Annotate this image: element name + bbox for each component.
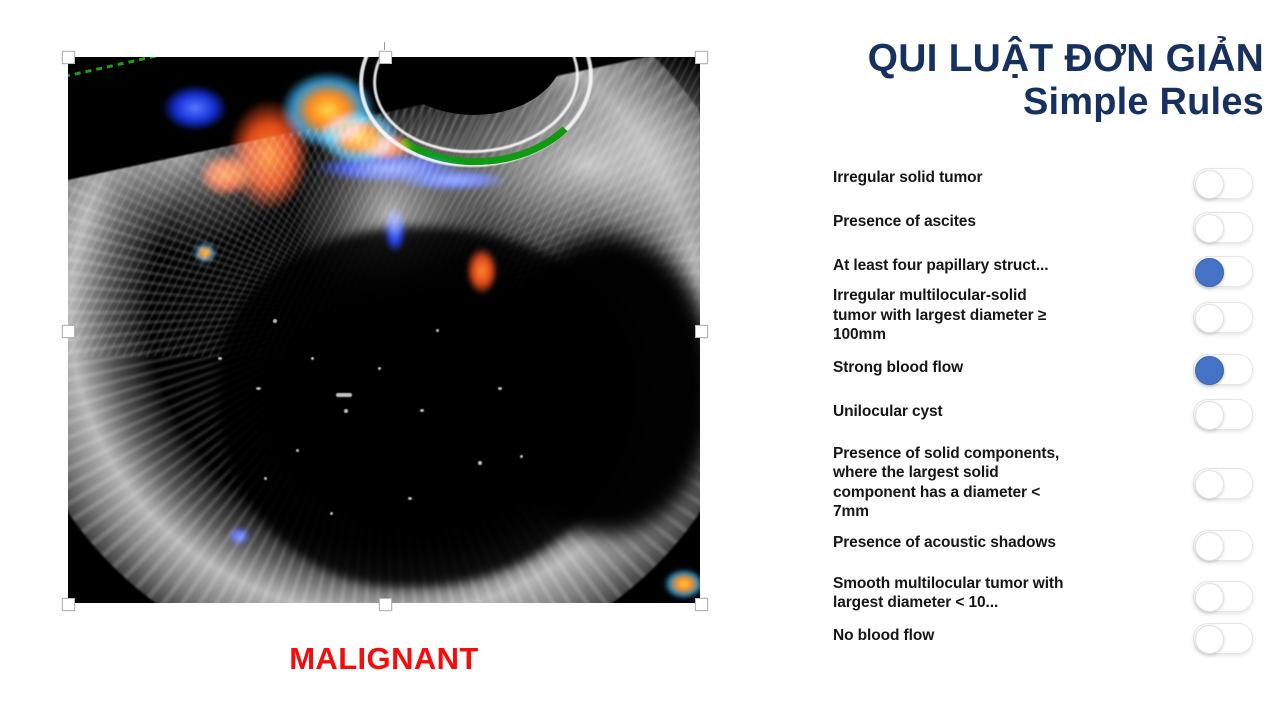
doppler-blue-blob xyxy=(398,169,508,191)
rule-toggle-four-papillary-structures[interactable] xyxy=(1193,256,1253,287)
rule-label: Presence of acoustic shadows xyxy=(833,530,1083,553)
toggle-knob-icon xyxy=(1195,583,1224,612)
rule-toggle-strong-blood-flow[interactable] xyxy=(1193,354,1253,385)
toggle-knob-icon xyxy=(1195,532,1224,561)
rule-toggle-unilocular-cyst[interactable] xyxy=(1193,399,1253,430)
doppler-blue-blob xyxy=(384,207,406,253)
rule-label: Strong blood flow xyxy=(833,354,1071,378)
selection-handle-top-center[interactable] xyxy=(379,51,392,64)
selection-handle-top-left[interactable] xyxy=(62,51,75,64)
rule-label: At least four papillary struct... xyxy=(833,256,1071,276)
doppler-red-blob xyxy=(358,133,414,161)
rule-label: No blood flow xyxy=(833,623,1071,646)
rotate-handle-stem xyxy=(384,42,385,50)
rule-row: Smooth multilocular tumor with largest d… xyxy=(833,574,1253,613)
rule-row: Strong blood flow xyxy=(833,354,1253,384)
rule-row: At least four papillary struct... xyxy=(833,256,1253,286)
slide-title-vietnamese: QUI LUẬT ĐƠN GIẢN xyxy=(756,38,1264,79)
ultrasound-image-placeholder[interactable] xyxy=(68,57,700,603)
rule-row: Presence of ascites xyxy=(833,212,1253,242)
rule-toggle-presence-of-acoustic-shadows[interactable] xyxy=(1193,530,1253,561)
doppler-mixed-blob xyxy=(664,569,700,599)
rule-row: Presence of acoustic shadows xyxy=(833,530,1253,560)
toggle-knob-icon xyxy=(1195,214,1224,243)
rule-row: Unilocular cyst xyxy=(833,399,1253,429)
selection-handle-middle-right[interactable] xyxy=(695,325,708,338)
selection-handle-top-right[interactable] xyxy=(695,51,708,64)
doppler-red-blob xyxy=(198,153,254,197)
toggle-knob-icon xyxy=(1195,170,1224,199)
rule-label: Irregular multilocular-solid tumor with … xyxy=(833,286,1071,345)
selection-handle-middle-left[interactable] xyxy=(62,325,75,338)
toggle-knob-icon xyxy=(1195,258,1224,287)
toggle-knob-icon xyxy=(1195,356,1224,385)
selection-handle-bottom-center[interactable] xyxy=(379,598,392,611)
simple-rules-list: Irregular solid tumor Presence of ascite… xyxy=(833,168,1253,667)
rule-label: Presence of solid components, where the … xyxy=(833,444,1071,522)
rule-row: Presence of solid components, where the … xyxy=(833,444,1253,522)
rule-toggle-presence-of-solid-components[interactable] xyxy=(1193,468,1253,499)
doppler-mixed-blob xyxy=(194,243,216,263)
ultrasound-image xyxy=(68,57,700,603)
rule-row: No blood flow xyxy=(833,623,1253,653)
slide-title: QUI LUẬT ĐƠN GIẢN Simple Rules xyxy=(756,38,1264,123)
rule-toggle-smooth-multilocular-tumor[interactable] xyxy=(1193,581,1253,612)
doppler-blue-blob xyxy=(162,85,228,131)
selection-handle-bottom-right[interactable] xyxy=(695,598,708,611)
doppler-blue-blob xyxy=(228,527,250,545)
toggle-knob-icon xyxy=(1195,401,1224,430)
rule-label: Smooth multilocular tumor with largest d… xyxy=(833,574,1071,613)
rule-row: Irregular solid tumor xyxy=(833,168,1253,198)
rule-toggle-presence-of-ascites[interactable] xyxy=(1193,212,1253,243)
rule-toggle-irregular-multilocular-solid-tumor[interactable] xyxy=(1193,302,1253,333)
rule-row: Irregular multilocular-solid tumor with … xyxy=(833,286,1253,345)
rule-toggle-no-blood-flow[interactable] xyxy=(1193,623,1253,654)
toggle-knob-icon xyxy=(1195,304,1224,333)
rule-label: Unilocular cyst xyxy=(833,399,1071,422)
rule-label: Presence of ascites xyxy=(833,212,1071,232)
rule-toggle-irregular-solid-tumor[interactable] xyxy=(1193,168,1253,199)
doppler-red-blob xyxy=(466,247,498,295)
rule-label: Irregular solid tumor xyxy=(833,168,1071,188)
selection-handle-bottom-left[interactable] xyxy=(62,598,75,611)
toggle-knob-icon xyxy=(1195,625,1224,654)
diagnosis-caption: MALIGNANT xyxy=(68,641,700,677)
slide-title-english: Simple Rules xyxy=(756,82,1264,122)
toggle-knob-icon xyxy=(1195,470,1224,499)
